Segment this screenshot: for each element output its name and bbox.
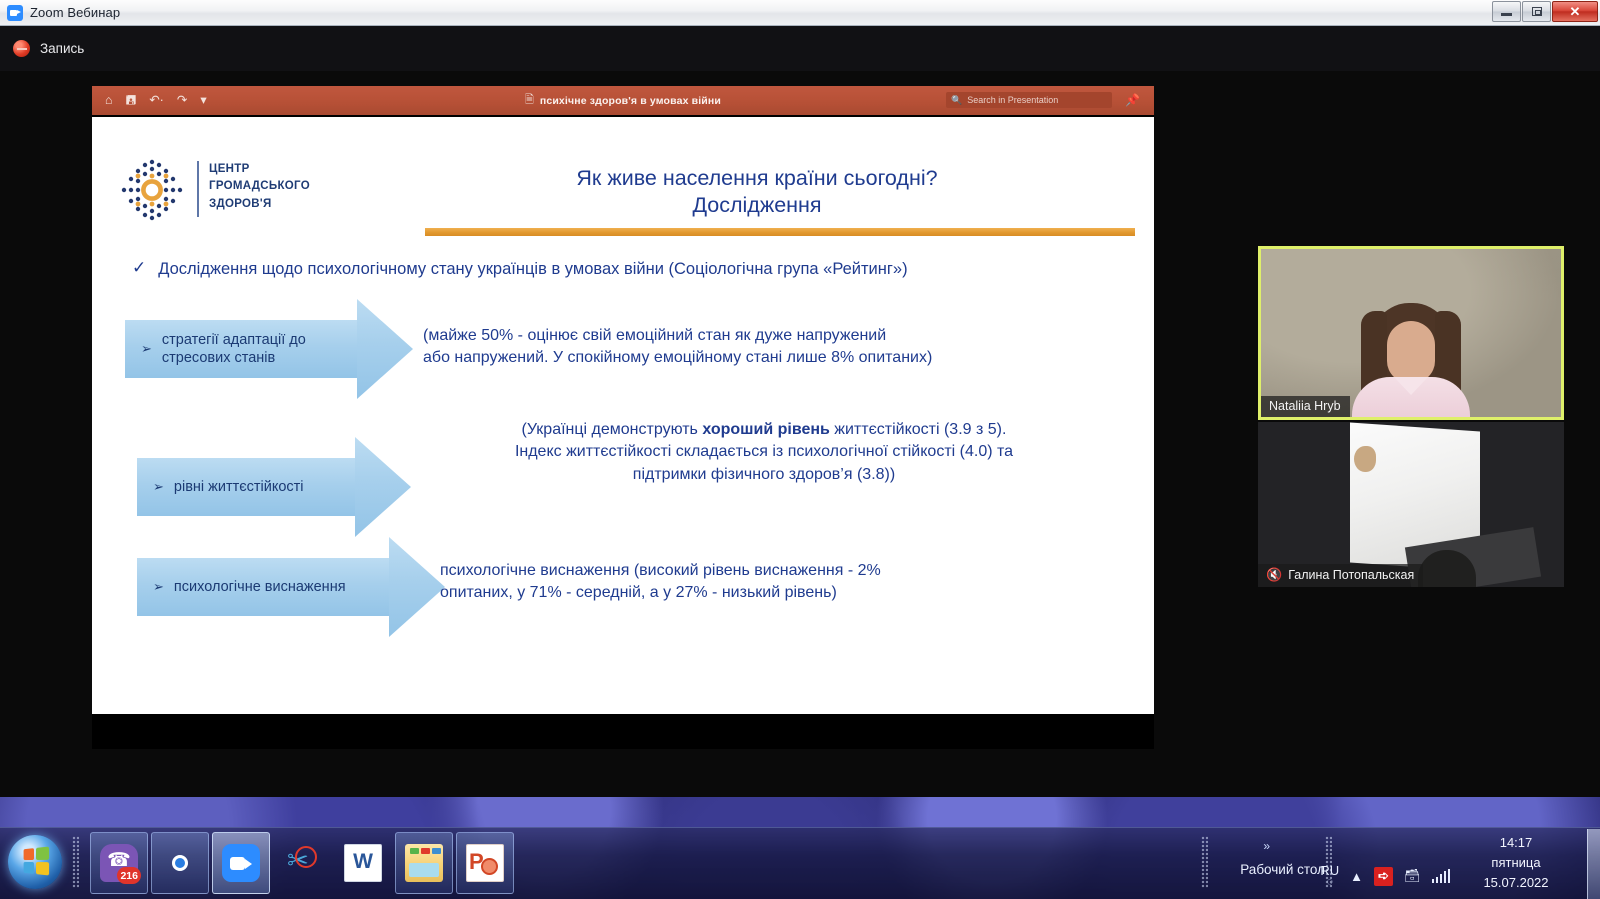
video-tile-secondary[interactable]: 🔇 Галина Потопальская: [1258, 422, 1564, 587]
minimize-button[interactable]: [1492, 1, 1521, 22]
body-text-1: (майже 50% - оцінює свій емоційний стан …: [423, 325, 1103, 370]
arrow-bullet-icon: ➢: [141, 341, 152, 357]
arrow-head-2: [355, 437, 411, 537]
chrome-icon: [161, 844, 199, 882]
close-icon: ✕: [1570, 4, 1581, 20]
word-icon: [344, 844, 382, 882]
body-text-3-line-1: психологічне виснаження (високий рівень …: [440, 560, 1100, 582]
zoom-webinar-window: Zoom Вебинар ✕ Запись ⌂ 🖪 ↶· ↷ ▾ 🗎 психі…: [0, 0, 1600, 797]
logo-text: ЦЕНТР ГРОМАДСЬКОГО ЗДОРОВ'Я: [209, 161, 310, 213]
taskbar-grip-left[interactable]: [72, 836, 79, 888]
body-text-3-line-2: опитаних, у 71% - середній, а у 27% - ни…: [440, 582, 1100, 604]
zoom-video-icon: [7, 5, 23, 21]
taskbar-item-zoom[interactable]: [212, 832, 270, 894]
window-title: Zoom Вебинар: [30, 5, 120, 20]
arrow-callout-1: ➢ стратегії адаптації до стресових стані…: [125, 320, 357, 378]
powerpoint-toolbar: ⌂ 🖪 ↶· ↷ ▾ 🗎 психічне здоров'я в умовах …: [92, 86, 1154, 115]
participant-name-tag: Nataliia Hryb: [1261, 396, 1350, 417]
arrow-shape-1: ➢ стратегії адаптації до стресових стані…: [125, 320, 357, 378]
document-title: психічне здоров'я в умовах війни: [540, 95, 721, 107]
arrow-head-3: [389, 537, 445, 637]
title-underline-bar: [425, 228, 1135, 236]
shared-screen-area: ⌂ 🖪 ↶· ↷ ▾ 🗎 психічне здоров'я в умовах …: [92, 86, 1154, 749]
participant-hand: [1354, 446, 1376, 472]
recording-bar: Запись: [0, 26, 1600, 71]
participant-name: Галина Потопальская: [1288, 568, 1414, 582]
folder-icon: [405, 844, 443, 882]
search-icon: 🔍: [951, 95, 962, 106]
windows-flag-icon: [24, 846, 50, 875]
lead-bullet-text: Дослідження щодо психологічному стану ук…: [158, 259, 907, 280]
body-text-2-line-3: підтримки фізичного здоров’я (3.8)): [419, 464, 1109, 486]
clock-date: 15.07.2022: [1460, 873, 1572, 893]
taskbar-item-viber[interactable]: 216: [90, 832, 148, 894]
restore-icon: [1532, 7, 1542, 16]
dotted-circle-logo-icon: [119, 157, 185, 223]
close-button[interactable]: ✕: [1552, 1, 1598, 22]
language-sub-icon: ◌: [1320, 877, 1339, 889]
participant-face: [1387, 321, 1435, 383]
arrow-label-3: психологічне виснаження: [174, 578, 346, 596]
body-text-2-emphasis: хороший рівень: [702, 421, 830, 438]
participant-name: Nataliia Hryb: [1269, 399, 1341, 413]
arrow-label-1: стратегії адаптації до стресових станів: [162, 331, 351, 367]
arrow-callout-2: ➢ рівні життєстійкості: [137, 458, 355, 516]
scissors-icon: [283, 844, 321, 882]
taskbar-item-explorer[interactable]: [395, 832, 453, 894]
slide-canvas: ЦЕНТР ГРОМАДСЬКОГО ЗДОРОВ'Я Як живе насе…: [92, 117, 1154, 714]
taskbar-item-chrome[interactable]: [151, 832, 209, 894]
powerpoint-tool-group: ⌂ 🖪 ↶· ↷ ▾: [105, 94, 207, 107]
slide-title: Як живе населення країни сьогодні? Дослі…: [392, 165, 1122, 219]
body-text-1-line-1: (майже 50% - оцінює свій емоційний стан …: [423, 325, 1103, 347]
more-icon[interactable]: ▾: [200, 94, 206, 107]
window-titlebar: Zoom Вебинар ✕: [0, 0, 1600, 26]
body-text-2-line-1: (Українці демонструють хороший рівень жи…: [419, 419, 1109, 441]
body-text-2-line-1-a: (Українці демонструють: [522, 421, 703, 438]
body-text-2: (Українці демонструють хороший рівень жи…: [419, 419, 1109, 486]
taskbar-item-powerpoint[interactable]: [456, 832, 514, 894]
arrow-shape-2: ➢ рівні життєстійкості: [137, 458, 355, 516]
signal-bars-icon[interactable]: [1432, 869, 1451, 883]
logo-line-1: ЦЕНТР: [209, 161, 310, 178]
body-text-2-line-1-c: життєстійкості (3.9 з 5).: [830, 421, 1007, 438]
window-controls: ✕: [1492, 1, 1598, 22]
present-pin-icon[interactable]: 📌: [1125, 93, 1140, 107]
logo-line-2: ГРОМАДСЬКОГО: [209, 178, 310, 195]
organization-logo: ЦЕНТР ГРОМАДСЬКОГО ЗДОРОВ'Я: [119, 155, 339, 227]
redo-icon[interactable]: ↷: [177, 94, 187, 107]
body-text-2-line-2: Індекс життєстійкості складається із пси…: [419, 441, 1109, 463]
clock[interactable]: 14:17 пятница 15.07.2022: [1460, 833, 1572, 893]
undo-icon[interactable]: ↶·: [149, 94, 164, 107]
taskbar-item-snipping-tool[interactable]: [273, 832, 331, 894]
adobe-reader-icon[interactable]: ➪: [1374, 867, 1393, 886]
body-text-3: психологічне виснаження (високий рівень …: [440, 560, 1100, 605]
windows-taskbar: 216 » Рабочий стол RU ◌ ▲ ➪ 🗃: [0, 827, 1600, 899]
powerpoint-icon: [466, 844, 504, 882]
taskbar-app-buttons: 216: [90, 832, 514, 894]
recording-label: Запись: [40, 41, 84, 56]
mic-muted-icon: 🔇: [1266, 567, 1282, 583]
language-indicator[interactable]: RU ◌: [1320, 864, 1339, 889]
viber-badge-count: 216: [117, 867, 141, 884]
lead-bullet: ✓ Дослідження щодо психологічному стану …: [132, 259, 1142, 280]
clock-weekday: пятница: [1460, 853, 1572, 873]
arrow-label-2: рівні життєстійкості: [174, 478, 304, 496]
arrow-head-1: [357, 299, 413, 399]
removable-device-icon[interactable]: 🗃: [1404, 868, 1421, 884]
participant-name-tag: 🔇 Галина Потопальская: [1258, 564, 1423, 587]
minimize-icon: [1501, 13, 1512, 16]
clock-time: 14:17: [1460, 833, 1572, 853]
save-icon[interactable]: 🖪: [126, 94, 137, 107]
show-desktop-label[interactable]: Рабочий стол: [1240, 862, 1325, 877]
arrow-bullet-icon: ➢: [153, 579, 164, 595]
record-dot-icon[interactable]: [13, 40, 30, 57]
slide-title-line-2: Дослідження: [392, 192, 1122, 219]
expand-tray-icon[interactable]: »: [1263, 839, 1270, 853]
search-input[interactable]: [967, 95, 1097, 105]
body-text-1-line-2: або напружений. У спокійному емоційному …: [423, 347, 1103, 369]
arrow-shape-3: ➢ психологічне виснаження: [137, 558, 389, 616]
logo-divider: [197, 161, 199, 217]
slide-title-line-1: Як живе населення країни сьогодні?: [392, 165, 1122, 192]
video-tile-active-speaker[interactable]: Nataliia Hryb: [1258, 246, 1564, 420]
zoom-icon: [222, 844, 260, 882]
restore-button[interactable]: [1522, 1, 1551, 22]
arrow-bullet-icon: ➢: [153, 479, 164, 495]
windows-start-orb-icon: [8, 835, 62, 889]
logo-line-3: ЗДОРОВ'Я: [209, 196, 310, 213]
home-icon[interactable]: ⌂: [105, 94, 113, 107]
arrow-callout-3: ➢ психологічне виснаження: [137, 558, 389, 616]
taskbar-item-word[interactable]: [334, 832, 392, 894]
taskbar-grip-desktop[interactable]: [1201, 836, 1208, 888]
show-hidden-icons-icon[interactable]: ▲: [1350, 869, 1363, 884]
viber-icon: 216: [100, 844, 138, 882]
check-icon: ✓: [132, 259, 146, 278]
document-icon: 🗎: [525, 91, 534, 110]
start-button[interactable]: [4, 829, 66, 895]
search-in-presentation[interactable]: 🔍: [946, 92, 1112, 108]
show-desktop-button[interactable]: [1587, 829, 1600, 899]
system-tray: RU ◌ ▲ ➪ 🗃: [1320, 864, 1450, 889]
